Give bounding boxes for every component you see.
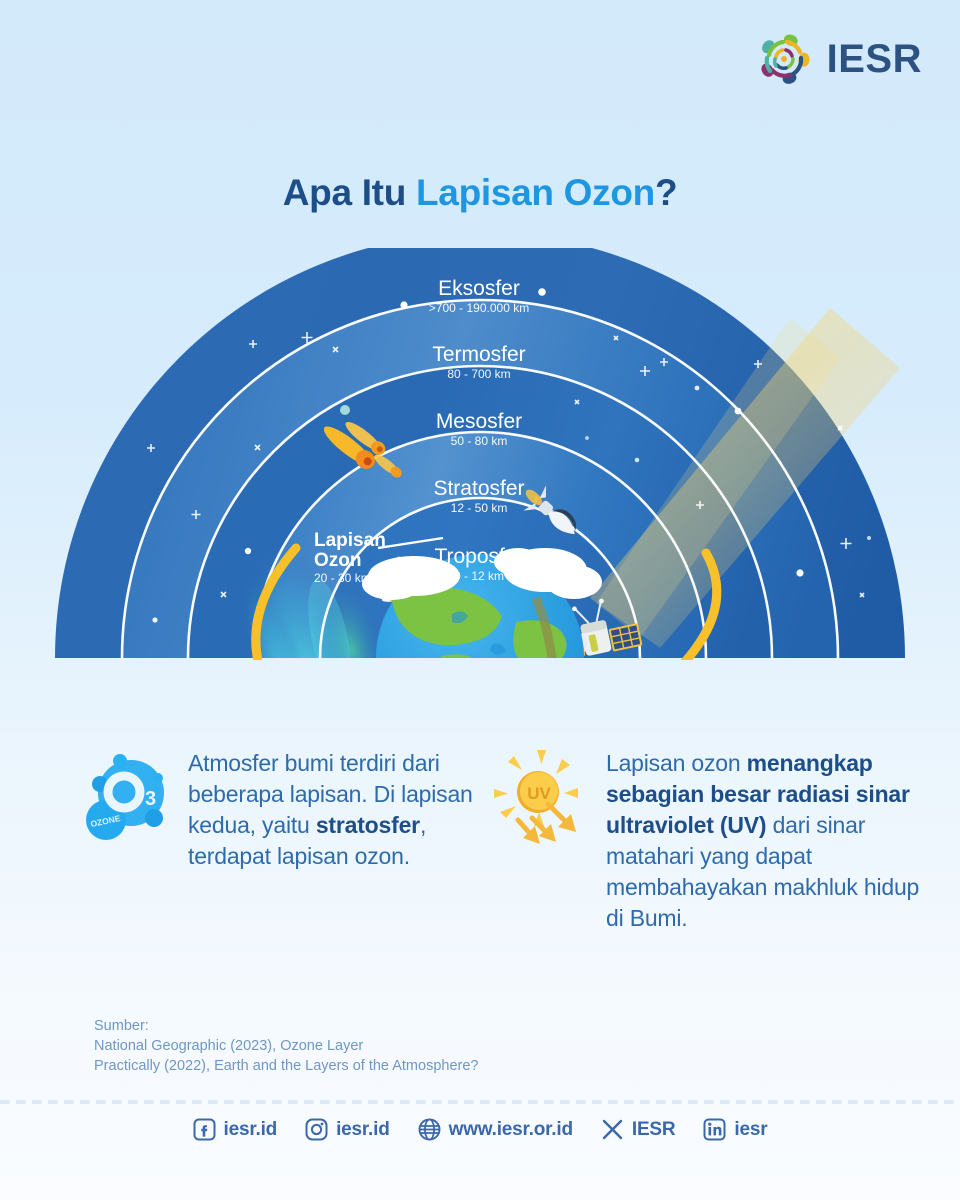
social-footer: iesr.id iesr.id www.iesr.or.id IESR iesr bbox=[0, 1118, 960, 1141]
instagram-icon bbox=[305, 1118, 328, 1141]
layer-name-eksosfer: Eksosfer bbox=[438, 277, 520, 300]
social-item-website[interactable]: www.iesr.or.id bbox=[418, 1118, 573, 1141]
info-text-right: Lapisan ozon menangkap sebagian besar ra… bbox=[606, 748, 922, 934]
info-block-right: UV Lapisan ozon menangkap sebagian besar… bbox=[492, 748, 922, 934]
social-label-x: IESR bbox=[632, 1119, 676, 1141]
social-item-instagram[interactable]: iesr.id bbox=[305, 1118, 390, 1141]
title-part-1: Apa Itu bbox=[283, 172, 416, 213]
atmosphere-diagram: Eksosfer >700 - 190.000 km Termosfer 80 … bbox=[0, 248, 960, 660]
brand-header: IESR bbox=[753, 28, 922, 90]
social-item-facebook[interactable]: iesr.id bbox=[193, 1118, 278, 1141]
page-title: Apa Itu Lapisan Ozon? bbox=[0, 172, 960, 214]
ozone-o3-molecule-icon: 3 OZONE bbox=[74, 748, 174, 848]
layer-range-termosfer: 80 - 700 km bbox=[447, 367, 510, 381]
social-label-linkedin: iesr bbox=[734, 1119, 767, 1141]
layer-range-eksosfer: >700 - 190.000 km bbox=[429, 301, 529, 315]
globe-icon bbox=[418, 1118, 441, 1141]
facebook-icon bbox=[193, 1118, 216, 1141]
social-item-x[interactable]: IESR bbox=[601, 1118, 676, 1141]
layer-range-troposfer: 0 - 12 km bbox=[454, 569, 504, 583]
title-part-3: ? bbox=[655, 172, 677, 213]
svg-text:UV: UV bbox=[527, 784, 551, 803]
title-part-2: Lapisan Ozon bbox=[416, 172, 655, 213]
layer-name-troposfer: Troposfer bbox=[434, 545, 523, 568]
source-note: Sumber: National Geographic (2023), Ozon… bbox=[94, 1016, 478, 1076]
layer-name-termosfer: Termosfer bbox=[432, 343, 525, 366]
brand-name: IESR bbox=[827, 37, 922, 82]
layer-name-mesosfer: Mesosfer bbox=[436, 410, 522, 433]
social-label-website: www.iesr.or.id bbox=[449, 1119, 573, 1141]
source-line-2: Practically (2022), Earth and the Layers… bbox=[94, 1056, 478, 1076]
svg-text:3: 3 bbox=[145, 788, 156, 810]
social-item-linkedin[interactable]: iesr bbox=[703, 1118, 767, 1141]
right-text-before: Lapisan ozon bbox=[606, 750, 747, 776]
layer-range-stratosfer: 12 - 50 km bbox=[451, 501, 508, 515]
social-label-instagram: iesr.id bbox=[336, 1119, 390, 1141]
iesr-swirl-logo-icon bbox=[753, 28, 815, 90]
x-twitter-icon bbox=[601, 1118, 624, 1141]
layer-range-mesosfer: 50 - 80 km bbox=[451, 434, 508, 448]
source-heading: Sumber: bbox=[94, 1016, 478, 1036]
info-text-left: Atmosfer bumi terdiri dari beberapa lapi… bbox=[188, 748, 474, 872]
ozone-callout-line2: Ozon bbox=[314, 550, 362, 571]
ozone-callout-line1: Lapisan bbox=[314, 530, 386, 551]
linkedin-icon bbox=[703, 1118, 726, 1141]
uv-sun-icon: UV bbox=[492, 748, 592, 848]
info-block-left: 3 OZONE Atmosfer bumi terdiri dari beber… bbox=[74, 748, 474, 872]
left-text-bold: stratosfer bbox=[316, 812, 420, 838]
footer-divider bbox=[0, 1100, 960, 1104]
layer-name-stratosfer: Stratosfer bbox=[433, 477, 524, 500]
ozone-callout-range: 20 - 30 km bbox=[314, 571, 371, 585]
social-label-facebook: iesr.id bbox=[224, 1119, 278, 1141]
source-line-1: National Geographic (2023), Ozone Layer bbox=[94, 1036, 478, 1056]
